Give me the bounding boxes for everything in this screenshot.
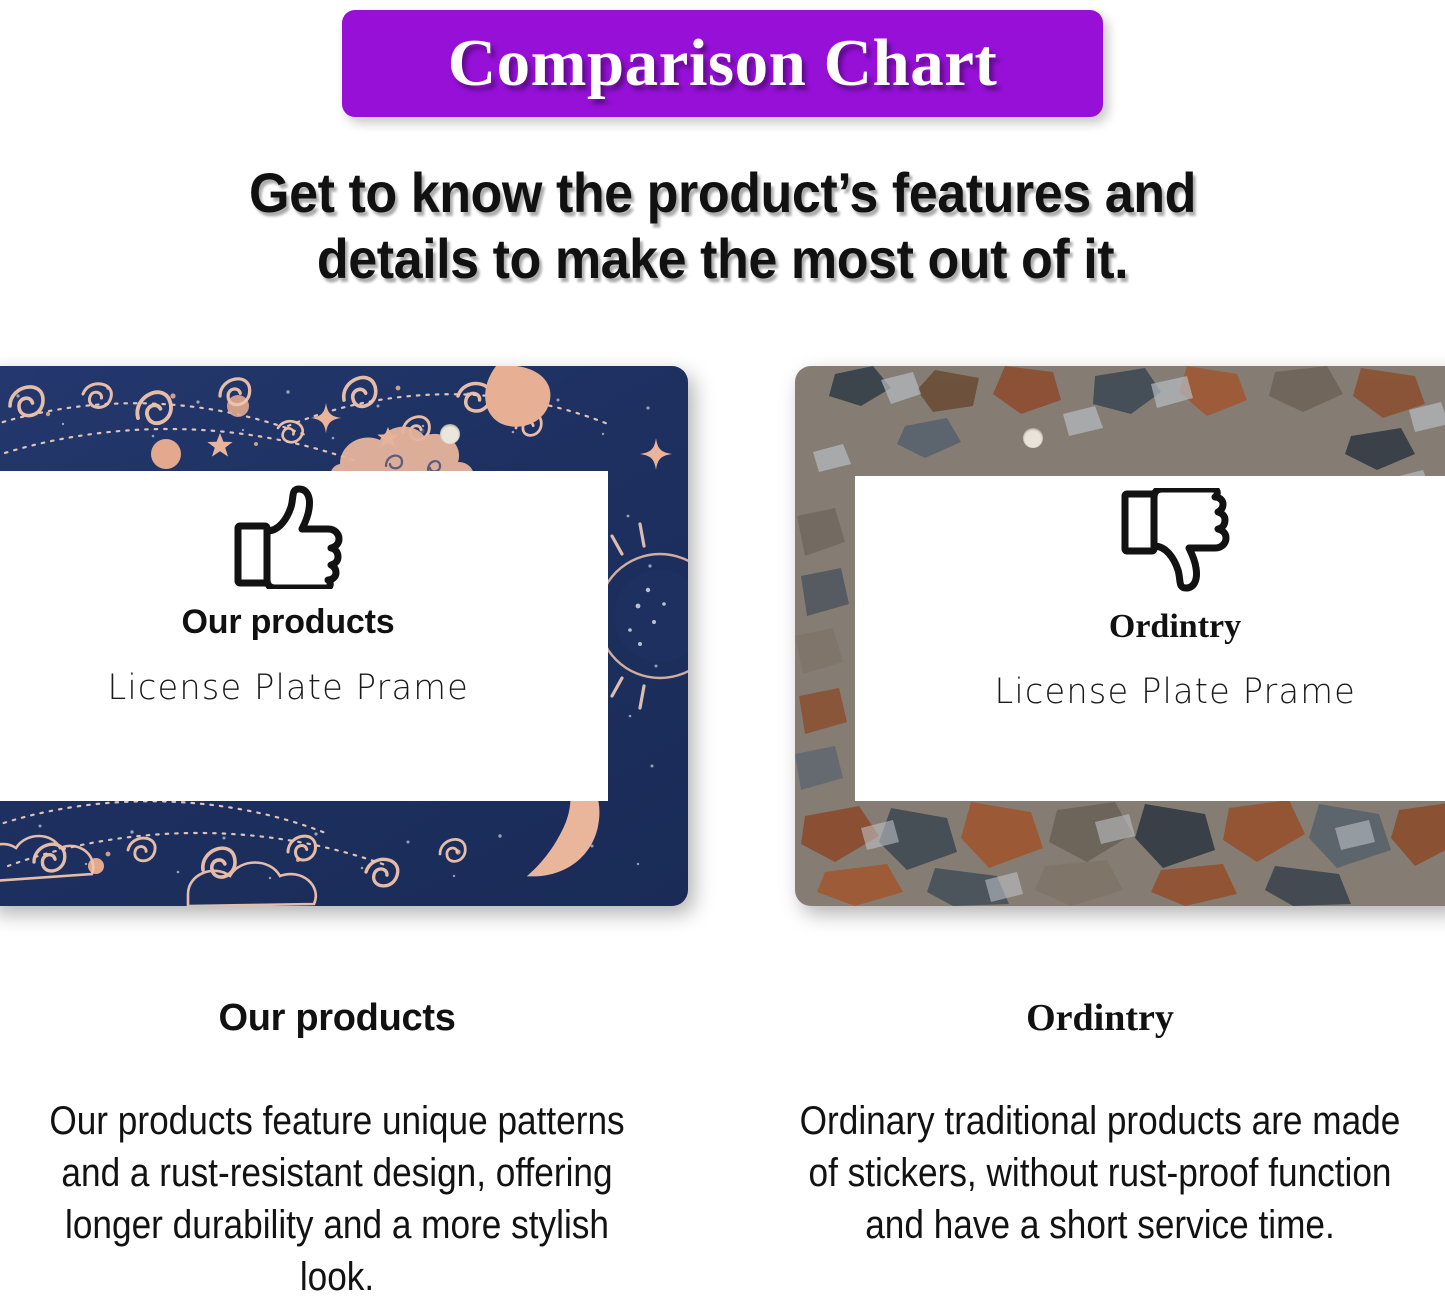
description-column-ordinary: Ordintry Ordinary traditional products a… <box>755 995 1445 1251</box>
mounting-hole-icon <box>1023 428 1043 448</box>
description-heading-ours: Our products <box>0 995 682 1041</box>
subheading-line-1: Get to know the product’s features and <box>51 160 1395 226</box>
description-heading-ordinary: Ordintry <box>755 995 1445 1041</box>
plate-window-ordinary: Ordintry License Plate Prame <box>855 476 1445 801</box>
thumbs-up-icon <box>231 483 345 589</box>
subheading: Get to know the product’s features and d… <box>51 160 1395 292</box>
product-frame-ordinary: Ordintry License Plate Prame <box>795 366 1445 906</box>
plate-window-content-ordinary: Ordintry License Plate Prame <box>855 476 1445 801</box>
title-banner: Comparison Chart <box>342 10 1103 117</box>
card-subtitle-ordinary: License Plate Prame <box>994 672 1355 712</box>
card-subtitle-ours: License Plate Prame <box>107 668 468 708</box>
thumbs-down-icon <box>1118 488 1232 594</box>
plate-window-content-ours: Our products License Plate Prame <box>0 471 608 801</box>
comparison-chart-page: Comparison Chart Get to know the product… <box>0 0 1445 1314</box>
product-frame-ours: Our products License Plate Prame <box>0 366 688 906</box>
plate-window-ours: Our products License Plate Prame <box>0 471 608 801</box>
card-title-ordinary: Ordintry <box>1109 608 1241 646</box>
mounting-hole-icon <box>440 424 460 444</box>
description-column-ours: Our products Our products feature unique… <box>0 995 682 1303</box>
subheading-line-2: details to make the most out of it. <box>51 226 1395 292</box>
description-body-ours: Our products feature unique patterns and… <box>33 1095 640 1303</box>
page-title: Comparison Chart <box>448 30 998 97</box>
description-body-ordinary: Ordinary traditional products are made o… <box>796 1095 1403 1251</box>
card-title-ours: Our products <box>182 603 395 642</box>
